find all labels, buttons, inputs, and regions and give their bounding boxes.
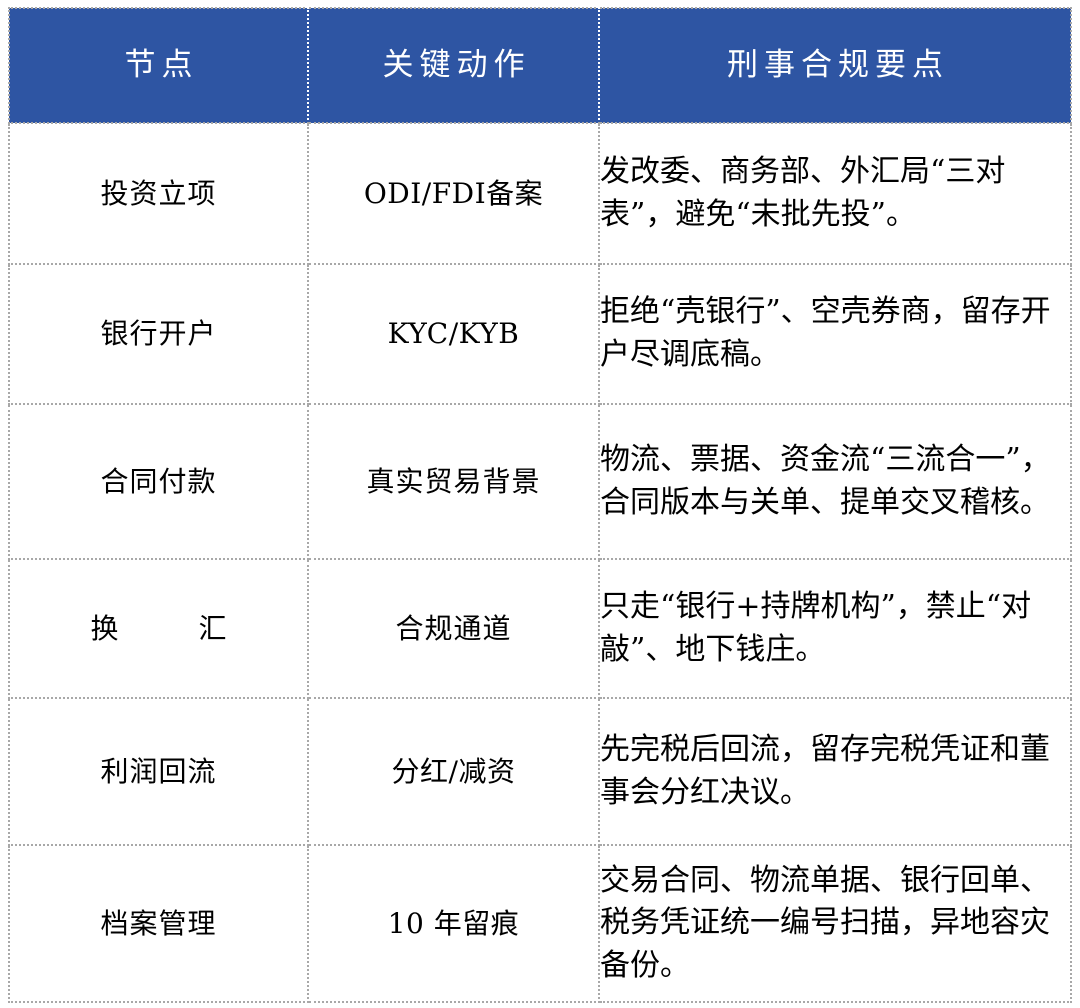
cell-action: ODI/FDI备案 [308, 123, 599, 264]
action-label: 合规通道 [309, 610, 598, 648]
cell-node: 换 汇 [9, 559, 308, 698]
action-label: 分红/减资 [309, 753, 598, 791]
compliance-table: 节点 关键动作 刑事合规要点 投资立项 ODI/FDI备案 发改委、商务部、外汇… [8, 7, 1072, 1003]
cell-action: 10 年留痕 [308, 845, 599, 1002]
table-row: 合同付款 真实贸易背景 物流、票据、资金流“三流合一”，合同版本与关单、提单交叉… [9, 404, 1071, 559]
cell-node: 档案管理 [9, 845, 308, 1002]
cell-action: 合规通道 [308, 559, 599, 698]
cell-points: 发改委、商务部、外汇局“三对表”，避免“未批先投”。 [599, 123, 1071, 264]
table-row: 档案管理 10 年留痕 交易合同、物流单据、银行回单、税务凭证统一编号扫描，异地… [9, 845, 1071, 1002]
action-label: 10 年留痕 [309, 905, 598, 943]
table-header: 节点 关键动作 刑事合规要点 [9, 8, 1071, 123]
table-row: 利润回流 分红/减资 先完税后回流，留存完税凭证和董事会分红决议。 [9, 698, 1071, 845]
cell-action: 真实贸易背景 [308, 404, 599, 559]
points-text: 先完税后回流，留存完税凭证和董事会分红决议。 [600, 729, 1070, 814]
points-text: 发改委、商务部、外汇局“三对表”，避免“未批先投”。 [600, 151, 1070, 236]
cell-node: 银行开户 [9, 264, 308, 404]
header-row: 节点 关键动作 刑事合规要点 [9, 8, 1071, 123]
table-container: 节点 关键动作 刑事合规要点 投资立项 ODI/FDI备案 发改委、商务部、外汇… [8, 7, 1070, 1001]
table-row: 投资立项 ODI/FDI备案 发改委、商务部、外汇局“三对表”，避免“未批先投”… [9, 123, 1071, 264]
node-label: 银行开户 [10, 315, 307, 353]
column-header-points: 刑事合规要点 [599, 8, 1071, 123]
node-label: 利润回流 [10, 753, 307, 791]
points-text: 只走“银行+持牌机构”，禁止“对敲”、地下钱庄。 [600, 586, 1070, 671]
cell-node: 合同付款 [9, 404, 308, 559]
points-text: 交易合同、物流单据、银行回单、税务凭证统一编号扫描，异地容灾备份。 [600, 860, 1070, 988]
cell-points: 交易合同、物流单据、银行回单、税务凭证统一编号扫描，异地容灾备份。 [599, 845, 1071, 1002]
cell-node: 投资立项 [9, 123, 308, 264]
node-label: 档案管理 [10, 905, 307, 943]
column-header-action: 关键动作 [308, 8, 599, 123]
node-label: 投资立项 [10, 175, 307, 213]
document-page: 节点 关键动作 刑事合规要点 投资立项 ODI/FDI备案 发改委、商务部、外汇… [0, 0, 1080, 1008]
points-text: 拒绝“壳银行”、空壳券商，留存开户尽调底稿。 [600, 291, 1070, 376]
cell-action: 分红/减资 [308, 698, 599, 845]
cell-points: 物流、票据、资金流“三流合一”，合同版本与关单、提单交叉稽核。 [599, 404, 1071, 559]
cell-points: 只走“银行+持牌机构”，禁止“对敲”、地下钱庄。 [599, 559, 1071, 698]
action-label: ODI/FDI备案 [309, 175, 598, 213]
table-body: 投资立项 ODI/FDI备案 发改委、商务部、外汇局“三对表”，避免“未批先投”… [9, 123, 1071, 1002]
action-label: 真实贸易背景 [309, 463, 598, 501]
cell-action: KYC/KYB [308, 264, 599, 404]
table-row: 换 汇 合规通道 只走“银行+持牌机构”，禁止“对敲”、地下钱庄。 [9, 559, 1071, 698]
table-row: 银行开户 KYC/KYB 拒绝“壳银行”、空壳券商，留存开户尽调底稿。 [9, 264, 1071, 404]
node-label: 换 汇 [10, 610, 307, 648]
cell-node: 利润回流 [9, 698, 308, 845]
node-label: 合同付款 [10, 463, 307, 501]
cell-points: 先完税后回流，留存完税凭证和董事会分红决议。 [599, 698, 1071, 845]
points-text: 物流、票据、资金流“三流合一”，合同版本与关单、提单交叉稽核。 [600, 439, 1070, 524]
cell-points: 拒绝“壳银行”、空壳券商，留存开户尽调底稿。 [599, 264, 1071, 404]
action-label: KYC/KYB [309, 315, 598, 353]
column-header-node: 节点 [9, 8, 308, 123]
